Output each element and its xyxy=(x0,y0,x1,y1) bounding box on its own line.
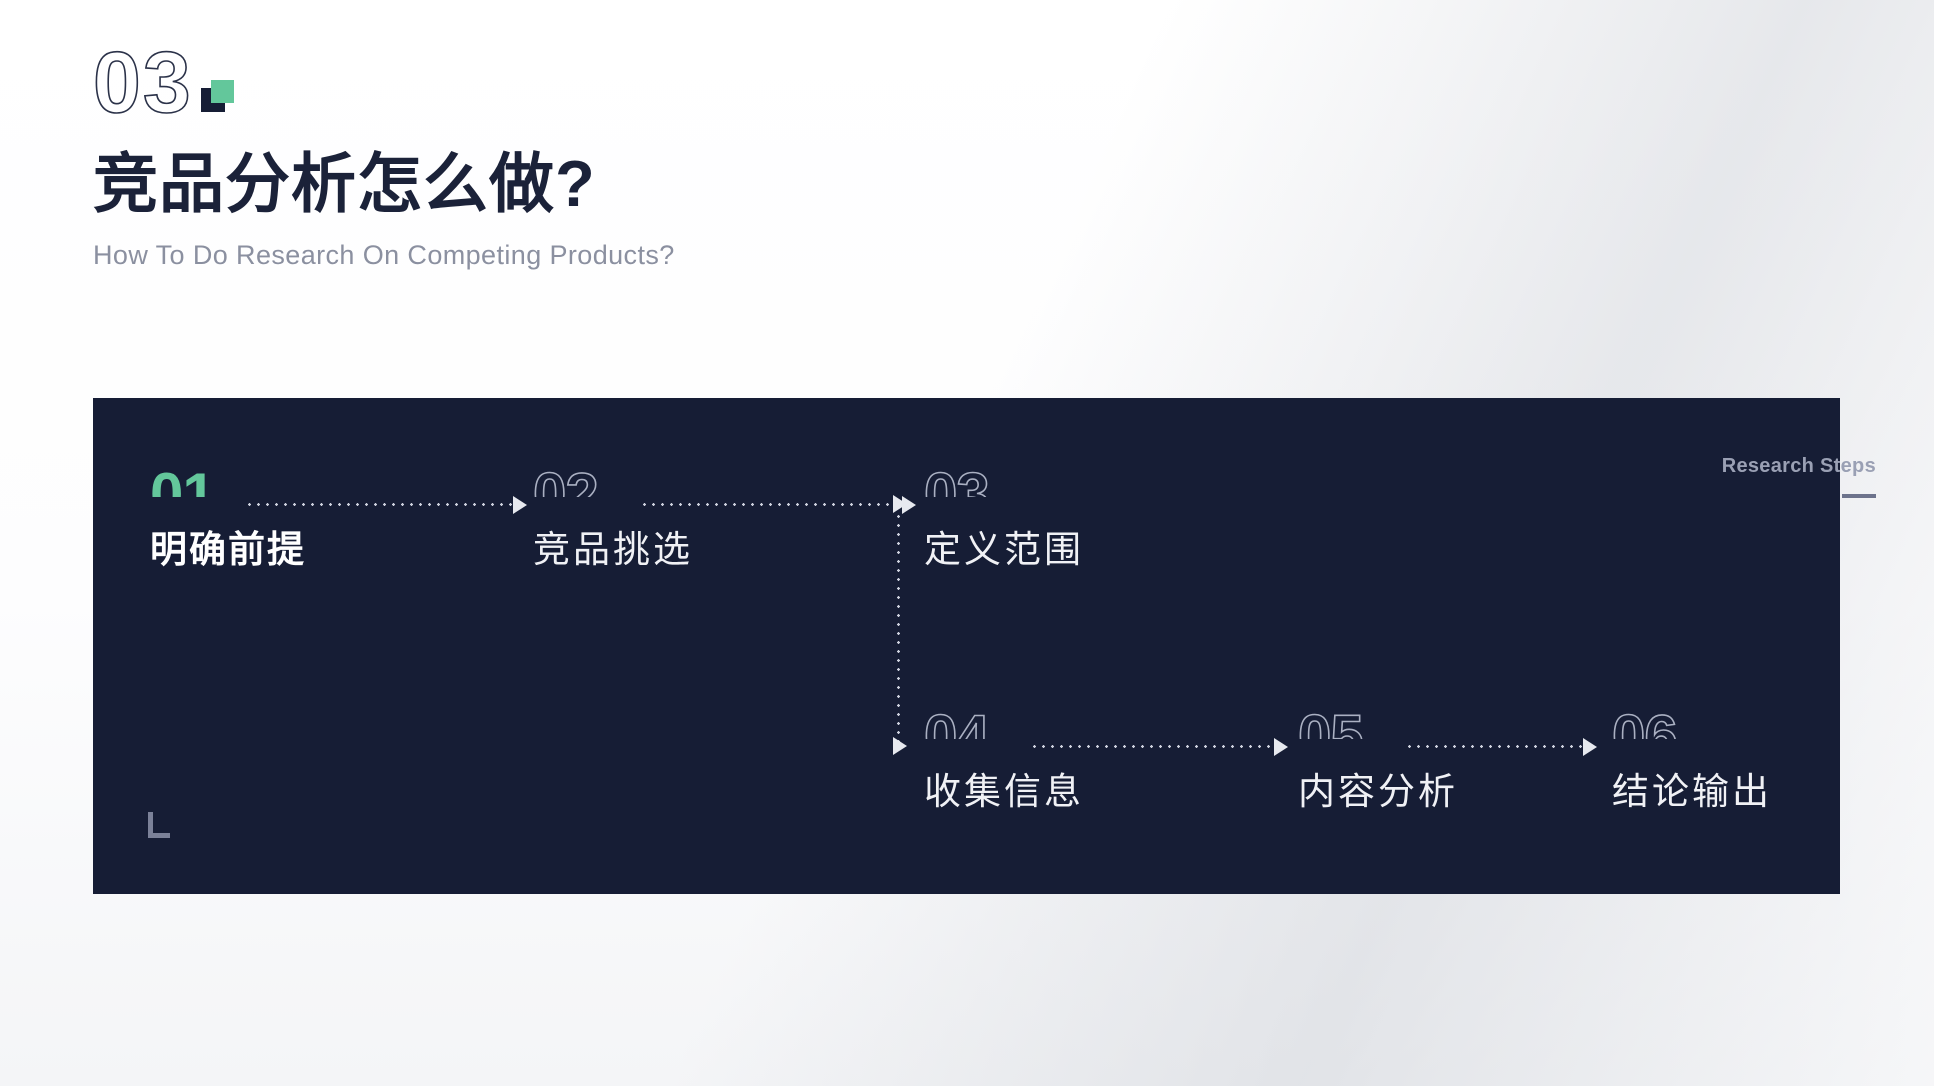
step-item-02[interactable]: 02 竞品挑选 xyxy=(533,465,693,573)
step-number-03: 03 xyxy=(924,465,1084,497)
step-number-02: 02 xyxy=(533,465,693,497)
connector-arrow-04-to-05 xyxy=(1274,738,1288,756)
step-number-06: 06 xyxy=(1612,707,1772,739)
section-number: 03 xyxy=(93,40,193,126)
connector-05-to-06 xyxy=(1405,745,1583,748)
page-header: 03 竞品分析怎么做? How To Do Research On Compet… xyxy=(93,40,675,271)
step-label-02: 竞品挑选 xyxy=(533,519,693,573)
connector-03-to-04-vertical xyxy=(897,503,900,747)
page-title: 竞品分析怎么做? xyxy=(93,148,675,220)
corner-bracket-mark xyxy=(148,812,170,838)
panel-heading-rule xyxy=(1842,494,1876,498)
panel-heading-label: Research Steps xyxy=(1722,455,1876,478)
step-number-01: 01 xyxy=(150,465,306,497)
connector-01-to-02 xyxy=(245,503,513,506)
connector-02-to-03 xyxy=(640,503,902,506)
step-item-03[interactable]: 03 定义范围 xyxy=(924,465,1084,573)
step-item-01[interactable]: 01 明确前提 xyxy=(150,465,306,573)
connector-arrow-01-to-02 xyxy=(513,496,527,514)
step-item-06[interactable]: 06 结论输出 xyxy=(1612,707,1772,815)
connector-arrow-05-to-06 xyxy=(1583,738,1597,756)
connector-04-to-05 xyxy=(1030,745,1274,748)
step-label-06: 结论输出 xyxy=(1612,761,1772,815)
connector-arrow-into-03 xyxy=(893,495,907,513)
section-number-row: 03 xyxy=(93,40,675,126)
decorative-square-green xyxy=(211,80,234,103)
step-label-05: 内容分析 xyxy=(1298,761,1458,815)
panel-heading: Research Steps xyxy=(1722,455,1876,498)
step-number-04: 04 xyxy=(924,707,1084,739)
decorative-square-mark xyxy=(197,72,239,112)
step-item-05[interactable]: 05 内容分析 xyxy=(1298,707,1458,815)
step-item-04[interactable]: 04 收集信息 xyxy=(924,707,1084,815)
page-subtitle: How To Do Research On Competing Products… xyxy=(93,240,675,271)
step-label-01: 明确前提 xyxy=(150,519,306,573)
step-label-03: 定义范围 xyxy=(924,519,1084,573)
step-label-04: 收集信息 xyxy=(924,761,1084,815)
step-number-05: 05 xyxy=(1298,707,1458,739)
connector-arrow-into-04 xyxy=(893,737,907,755)
